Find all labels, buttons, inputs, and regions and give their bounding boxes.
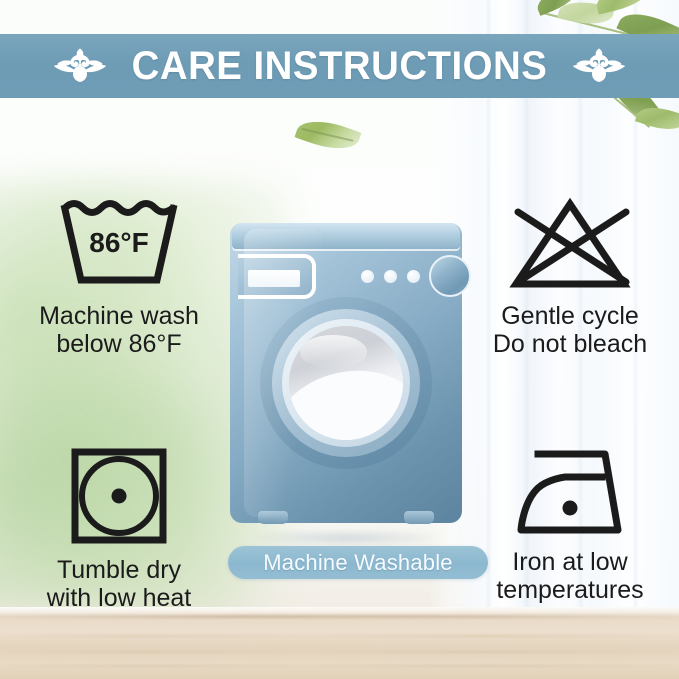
- machine-washable-badge: Machine Washable: [228, 546, 488, 579]
- washing-machine-illustration: [230, 213, 462, 538]
- machine-door-mid-ring: [272, 309, 420, 457]
- care-symbol-iron: Iron at low temperatures: [470, 446, 670, 604]
- care-symbol-machine-wash: 86°F Machine wash below 86°F: [10, 196, 228, 358]
- fleur-de-lis-icon: [572, 45, 626, 87]
- page-title: CARE INSTRUCTIONS: [132, 46, 548, 86]
- care-symbol-caption: Machine wash below 86°F: [10, 302, 228, 358]
- machine-shadow: [248, 530, 444, 546]
- machine-door-inner-ring: [282, 319, 410, 447]
- detergent-drawer: [238, 254, 316, 299]
- machine-door-outer-ring: [260, 297, 432, 469]
- care-symbol-caption: Iron at low temperatures: [470, 548, 670, 604]
- care-symbol-caption: Gentle cycle Do not bleach: [470, 302, 670, 358]
- machine-door-glass: [289, 326, 403, 440]
- control-button-1: [361, 270, 374, 283]
- wash-tub-icon-wrap: 86°F: [10, 196, 228, 292]
- tumble-dry-low-heat-icon-wrap: [10, 446, 228, 546]
- care-symbol-tumble-dry: Tumble dry with low heat: [10, 446, 228, 612]
- machine-foot-left: [258, 511, 288, 524]
- care-symbol-no-bleach: Gentle cycle Do not bleach: [470, 196, 670, 358]
- badge-label: Machine Washable: [263, 550, 452, 576]
- machine-foot-right: [404, 511, 434, 524]
- tumble-dry-low-heat-icon: [69, 446, 169, 546]
- wash-tub-icon: 86°F: [55, 196, 183, 292]
- fleur-de-lis-icon: [53, 45, 107, 87]
- iron-low-temperature-icon: [507, 446, 633, 538]
- control-button-3: [407, 270, 420, 283]
- background-wood-table: [0, 607, 679, 679]
- care-instructions-infographic: CARE INSTRUCTIONS 86°F Machine: [0, 0, 679, 679]
- program-knob-icon: [429, 255, 471, 297]
- control-button-2: [384, 270, 397, 283]
- care-symbol-caption: Tumble dry with low heat: [10, 556, 228, 612]
- wash-temperature-value: 86°F: [89, 227, 148, 258]
- machine-body: [230, 223, 462, 523]
- detergent-drawer-slot: [248, 270, 300, 287]
- triangle-crossed-no-bleach-icon-wrap: [470, 196, 670, 292]
- header-banner: CARE INSTRUCTIONS: [0, 34, 679, 98]
- machine-top-lid: [232, 223, 460, 249]
- iron-low-temperature-icon-wrap: [470, 446, 670, 538]
- triangle-crossed-no-bleach-icon: [500, 196, 640, 292]
